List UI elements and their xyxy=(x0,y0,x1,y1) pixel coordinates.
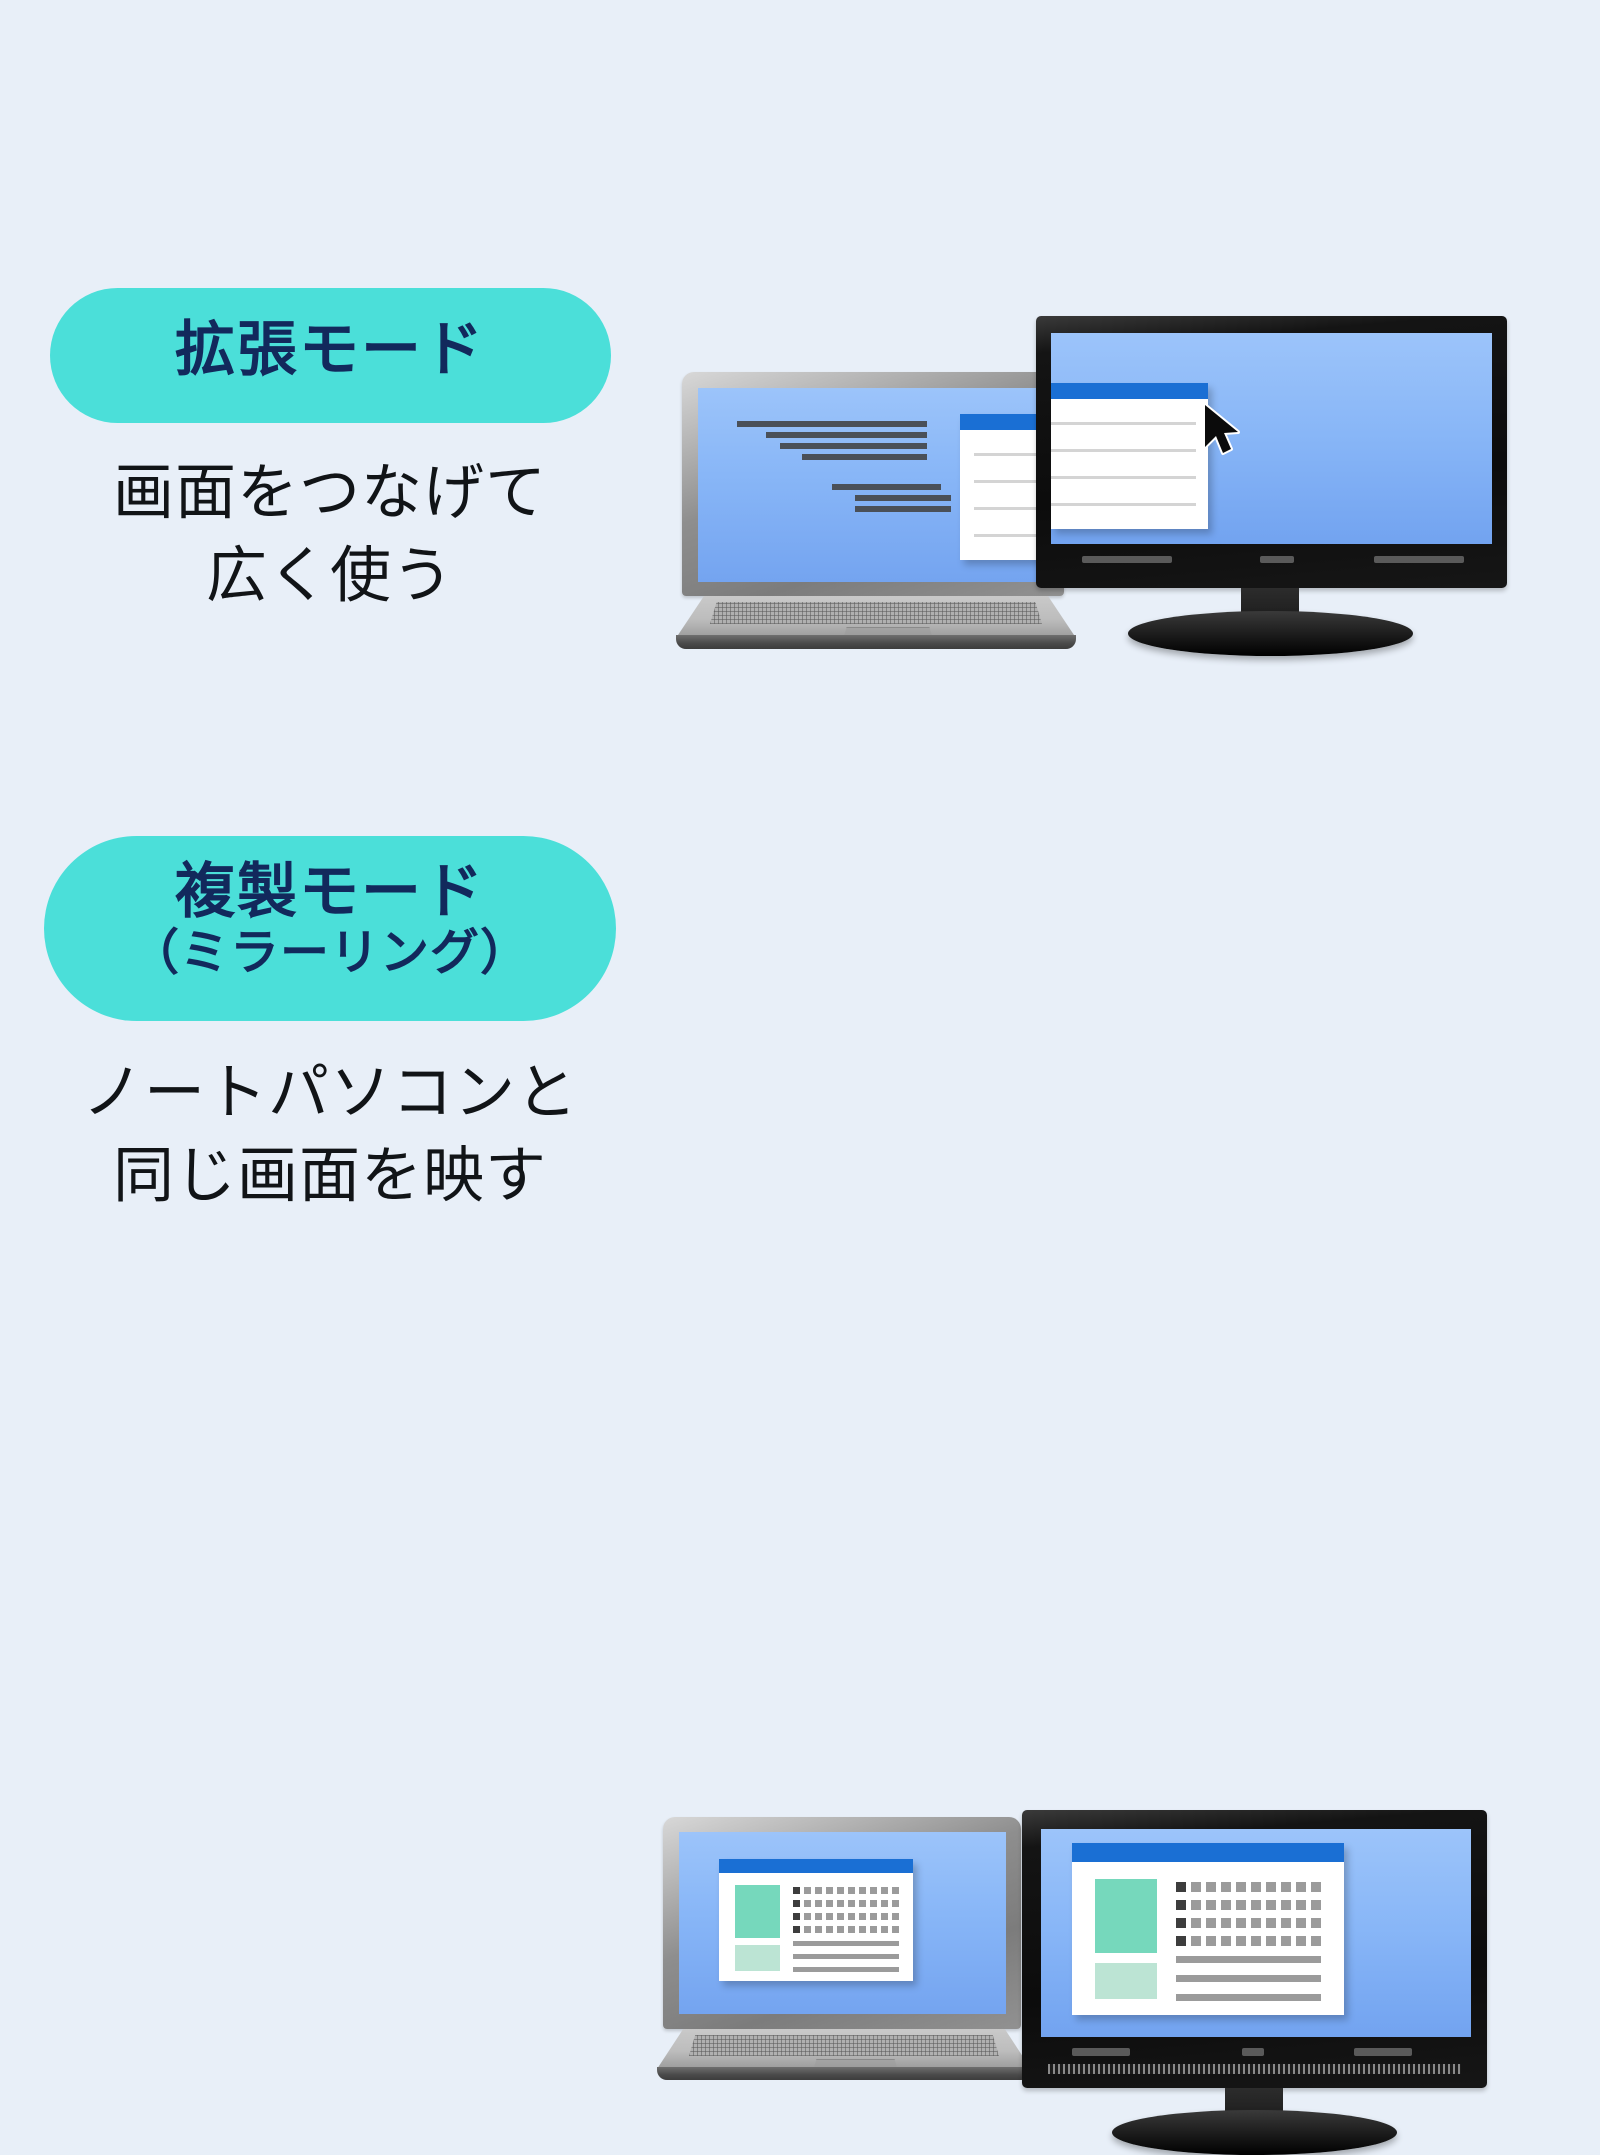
document-char-block xyxy=(804,1926,811,1933)
extended-description: 画面をつなげて 広く使う xyxy=(0,451,660,617)
desktop-text-line xyxy=(802,454,927,460)
badge-extended-mode: 拡張モード xyxy=(50,288,611,423)
section-duplicate-mode: 複製モード （ミラーリング） ノートパソコンと 同じ画面を映す xyxy=(0,800,1600,1600)
document-char-block xyxy=(1191,1936,1201,1946)
badge-duplicate-sublabel: （ミラーリング） xyxy=(44,927,616,980)
desktop-text-line xyxy=(832,484,941,490)
window-text-rule xyxy=(1051,503,1196,506)
document-char-block xyxy=(815,1900,822,1907)
document-char-block xyxy=(870,1900,877,1907)
document-char-block xyxy=(881,1900,888,1907)
desktop-text-line xyxy=(855,506,951,512)
badge-duplicate-mode: 複製モード （ミラーリング） xyxy=(44,836,616,1021)
document-char-block xyxy=(826,1887,833,1894)
laptop-keyboard[interactable] xyxy=(689,2035,999,2056)
document-window[interactable] xyxy=(719,1859,913,1981)
document-char-block xyxy=(815,1887,822,1894)
duplicate-description-line-1: ノートパソコンと xyxy=(0,1051,660,1134)
document-char-block xyxy=(1236,1936,1246,1946)
duplicate-description-line-2: 同じ画面を映す xyxy=(0,1134,660,1217)
document-char-block xyxy=(859,1887,866,1894)
document-char-block xyxy=(1281,1882,1291,1892)
document-char-block xyxy=(1191,1900,1201,1910)
document-char-block xyxy=(1266,1918,1276,1928)
document-char-block xyxy=(859,1926,866,1933)
document-text-line xyxy=(793,1967,899,1972)
window-title-bar[interactable] xyxy=(1051,383,1208,399)
laptop-base-lip xyxy=(657,2067,1031,2080)
window-title-bar[interactable] xyxy=(1072,1843,1344,1862)
laptop-base-lip xyxy=(676,635,1076,649)
laptop-keyboard[interactable] xyxy=(710,602,1042,624)
document-char-block xyxy=(870,1913,877,1920)
document-char-block xyxy=(848,1887,855,1894)
document-char-block xyxy=(881,1887,888,1894)
document-char-block xyxy=(892,1887,899,1894)
monitor-base xyxy=(1112,2110,1397,2155)
document-char-block xyxy=(1191,1882,1201,1892)
document-char-block xyxy=(1221,1936,1231,1946)
document-char-block xyxy=(793,1913,800,1920)
document-char-block xyxy=(793,1887,800,1894)
document-char-block xyxy=(837,1887,844,1894)
document-char-block xyxy=(1206,1900,1216,1910)
document-char-block xyxy=(870,1926,877,1933)
duplicate-description: ノートパソコンと 同じ画面を映す xyxy=(0,1051,660,1217)
window-text-rule xyxy=(1051,422,1196,425)
document-char-block xyxy=(848,1900,855,1907)
monitor-base xyxy=(1128,611,1413,656)
window-title-bar[interactable] xyxy=(719,1859,913,1873)
document-char-block xyxy=(1236,1900,1246,1910)
document-char-block xyxy=(1266,1936,1276,1946)
document-char-block xyxy=(793,1900,800,1907)
document-char-block xyxy=(1236,1882,1246,1892)
window-body xyxy=(719,1873,913,1981)
document-char-block xyxy=(1296,1936,1306,1946)
document-char-block xyxy=(1311,1882,1321,1892)
badge-duplicate-label: 複製モード xyxy=(44,860,616,925)
document-char-block xyxy=(793,1926,800,1933)
document-char-block xyxy=(1221,1882,1231,1892)
document-char-block xyxy=(1221,1918,1231,1928)
monitor-bezel-strip xyxy=(1354,2048,1412,2056)
document-char-block xyxy=(1236,1918,1246,1928)
window-body xyxy=(1072,1862,1344,2015)
document-char-block xyxy=(1296,1900,1306,1910)
monitor-bezel-strip xyxy=(1072,2048,1130,2056)
document-char-block xyxy=(1281,1918,1291,1928)
document-char-block xyxy=(1311,1918,1321,1928)
document-window[interactable] xyxy=(1072,1843,1344,2015)
laptop-lid xyxy=(663,1817,1021,2029)
document-char-block xyxy=(892,1926,899,1933)
document-char-block xyxy=(837,1913,844,1920)
document-char-block xyxy=(804,1900,811,1907)
extended-monitor xyxy=(1036,316,1514,656)
desktop-text-line xyxy=(855,495,951,501)
document-char-block xyxy=(848,1913,855,1920)
document-char-block xyxy=(1266,1882,1276,1892)
document-char-block xyxy=(1206,1918,1216,1928)
document-char-block xyxy=(1311,1900,1321,1910)
document-char-block xyxy=(859,1900,866,1907)
badge-extended-label: 拡張モード xyxy=(50,318,611,383)
extended-text-column: 拡張モード 画面をつなげて 広く使う xyxy=(0,288,660,617)
document-text-line xyxy=(793,1941,899,1946)
document-char-block xyxy=(892,1913,899,1920)
document-char-block xyxy=(1281,1900,1291,1910)
document-char-block xyxy=(1221,1900,1231,1910)
monitor-power-indicator xyxy=(1242,2048,1264,2056)
document-char-block xyxy=(859,1913,866,1920)
document-char-block xyxy=(1296,1882,1306,1892)
monitor-vent-grille xyxy=(1048,2064,1461,2074)
monitor-bezel-strip xyxy=(1082,556,1172,563)
document-char-block xyxy=(837,1900,844,1907)
duplicate-laptop xyxy=(657,1817,1031,2079)
illustration-canvas: 拡張モード 画面をつなげて 広く使う xyxy=(0,0,1600,1600)
laptop-screen xyxy=(679,1832,1006,2014)
duplicate-monitor xyxy=(1022,1810,1494,2146)
document-char-block xyxy=(1251,1882,1261,1892)
document-char-block xyxy=(804,1913,811,1920)
document-char-block xyxy=(848,1926,855,1933)
document-char-block xyxy=(1176,1900,1186,1910)
document-char-block xyxy=(815,1926,822,1933)
document-char-block xyxy=(826,1926,833,1933)
monitor-screen xyxy=(1051,333,1492,544)
desktop-text-line xyxy=(780,443,927,449)
document-char-block xyxy=(1251,1900,1261,1910)
spanning-window-right-part[interactable] xyxy=(1051,383,1208,529)
monitor-bezel-strip xyxy=(1374,556,1464,563)
document-char-block xyxy=(1176,1882,1186,1892)
monitor-bezel xyxy=(1022,1810,1487,2088)
document-char-block xyxy=(1206,1936,1216,1946)
document-char-block xyxy=(1311,1936,1321,1946)
window-body xyxy=(1051,399,1208,529)
document-text-line xyxy=(1176,1975,1321,1982)
section-extended-mode: 拡張モード 画面をつなげて 広く使う xyxy=(0,0,1600,800)
monitor-bezel xyxy=(1036,316,1507,588)
document-char-block xyxy=(881,1913,888,1920)
document-image-block xyxy=(1095,1879,1157,1953)
document-text-line xyxy=(1176,1956,1321,1963)
document-char-block xyxy=(837,1926,844,1933)
document-char-block xyxy=(1191,1918,1201,1928)
desktop-text-line xyxy=(766,432,927,438)
document-char-block xyxy=(1206,1882,1216,1892)
window-text-rule xyxy=(1051,449,1196,452)
document-char-block xyxy=(892,1900,899,1907)
document-image-block-secondary xyxy=(735,1945,780,1971)
document-char-block xyxy=(1281,1936,1291,1946)
document-char-block xyxy=(1251,1936,1261,1946)
document-char-block xyxy=(881,1926,888,1933)
monitor-power-indicator xyxy=(1260,556,1294,563)
document-char-block xyxy=(826,1913,833,1920)
laptop-lid xyxy=(682,372,1064,596)
document-text-line xyxy=(793,1954,899,1959)
document-char-block xyxy=(1176,1936,1186,1946)
document-image-block xyxy=(735,1885,780,1938)
window-text-rule xyxy=(1051,476,1196,479)
document-char-block xyxy=(1296,1918,1306,1928)
monitor-screen xyxy=(1041,1829,1471,2037)
duplicate-text-column: 複製モード （ミラーリング） ノートパソコンと 同じ画面を映す xyxy=(0,836,660,1217)
document-text-line xyxy=(1176,1994,1321,2001)
extended-description-line-2: 広く使う xyxy=(0,534,660,617)
document-char-block xyxy=(1176,1918,1186,1928)
document-char-block xyxy=(1251,1918,1261,1928)
laptop-screen xyxy=(698,388,1049,582)
extended-description-line-1: 画面をつなげて xyxy=(0,451,660,534)
document-image-block-secondary xyxy=(1095,1963,1157,1999)
document-char-block xyxy=(1266,1900,1276,1910)
document-char-block xyxy=(804,1887,811,1894)
mouse-pointer-icon xyxy=(1199,403,1243,459)
desktop-text-line xyxy=(737,421,927,427)
extended-laptop xyxy=(676,372,1076,650)
document-char-block xyxy=(826,1900,833,1907)
document-char-block xyxy=(870,1887,877,1894)
document-char-block xyxy=(815,1913,822,1920)
